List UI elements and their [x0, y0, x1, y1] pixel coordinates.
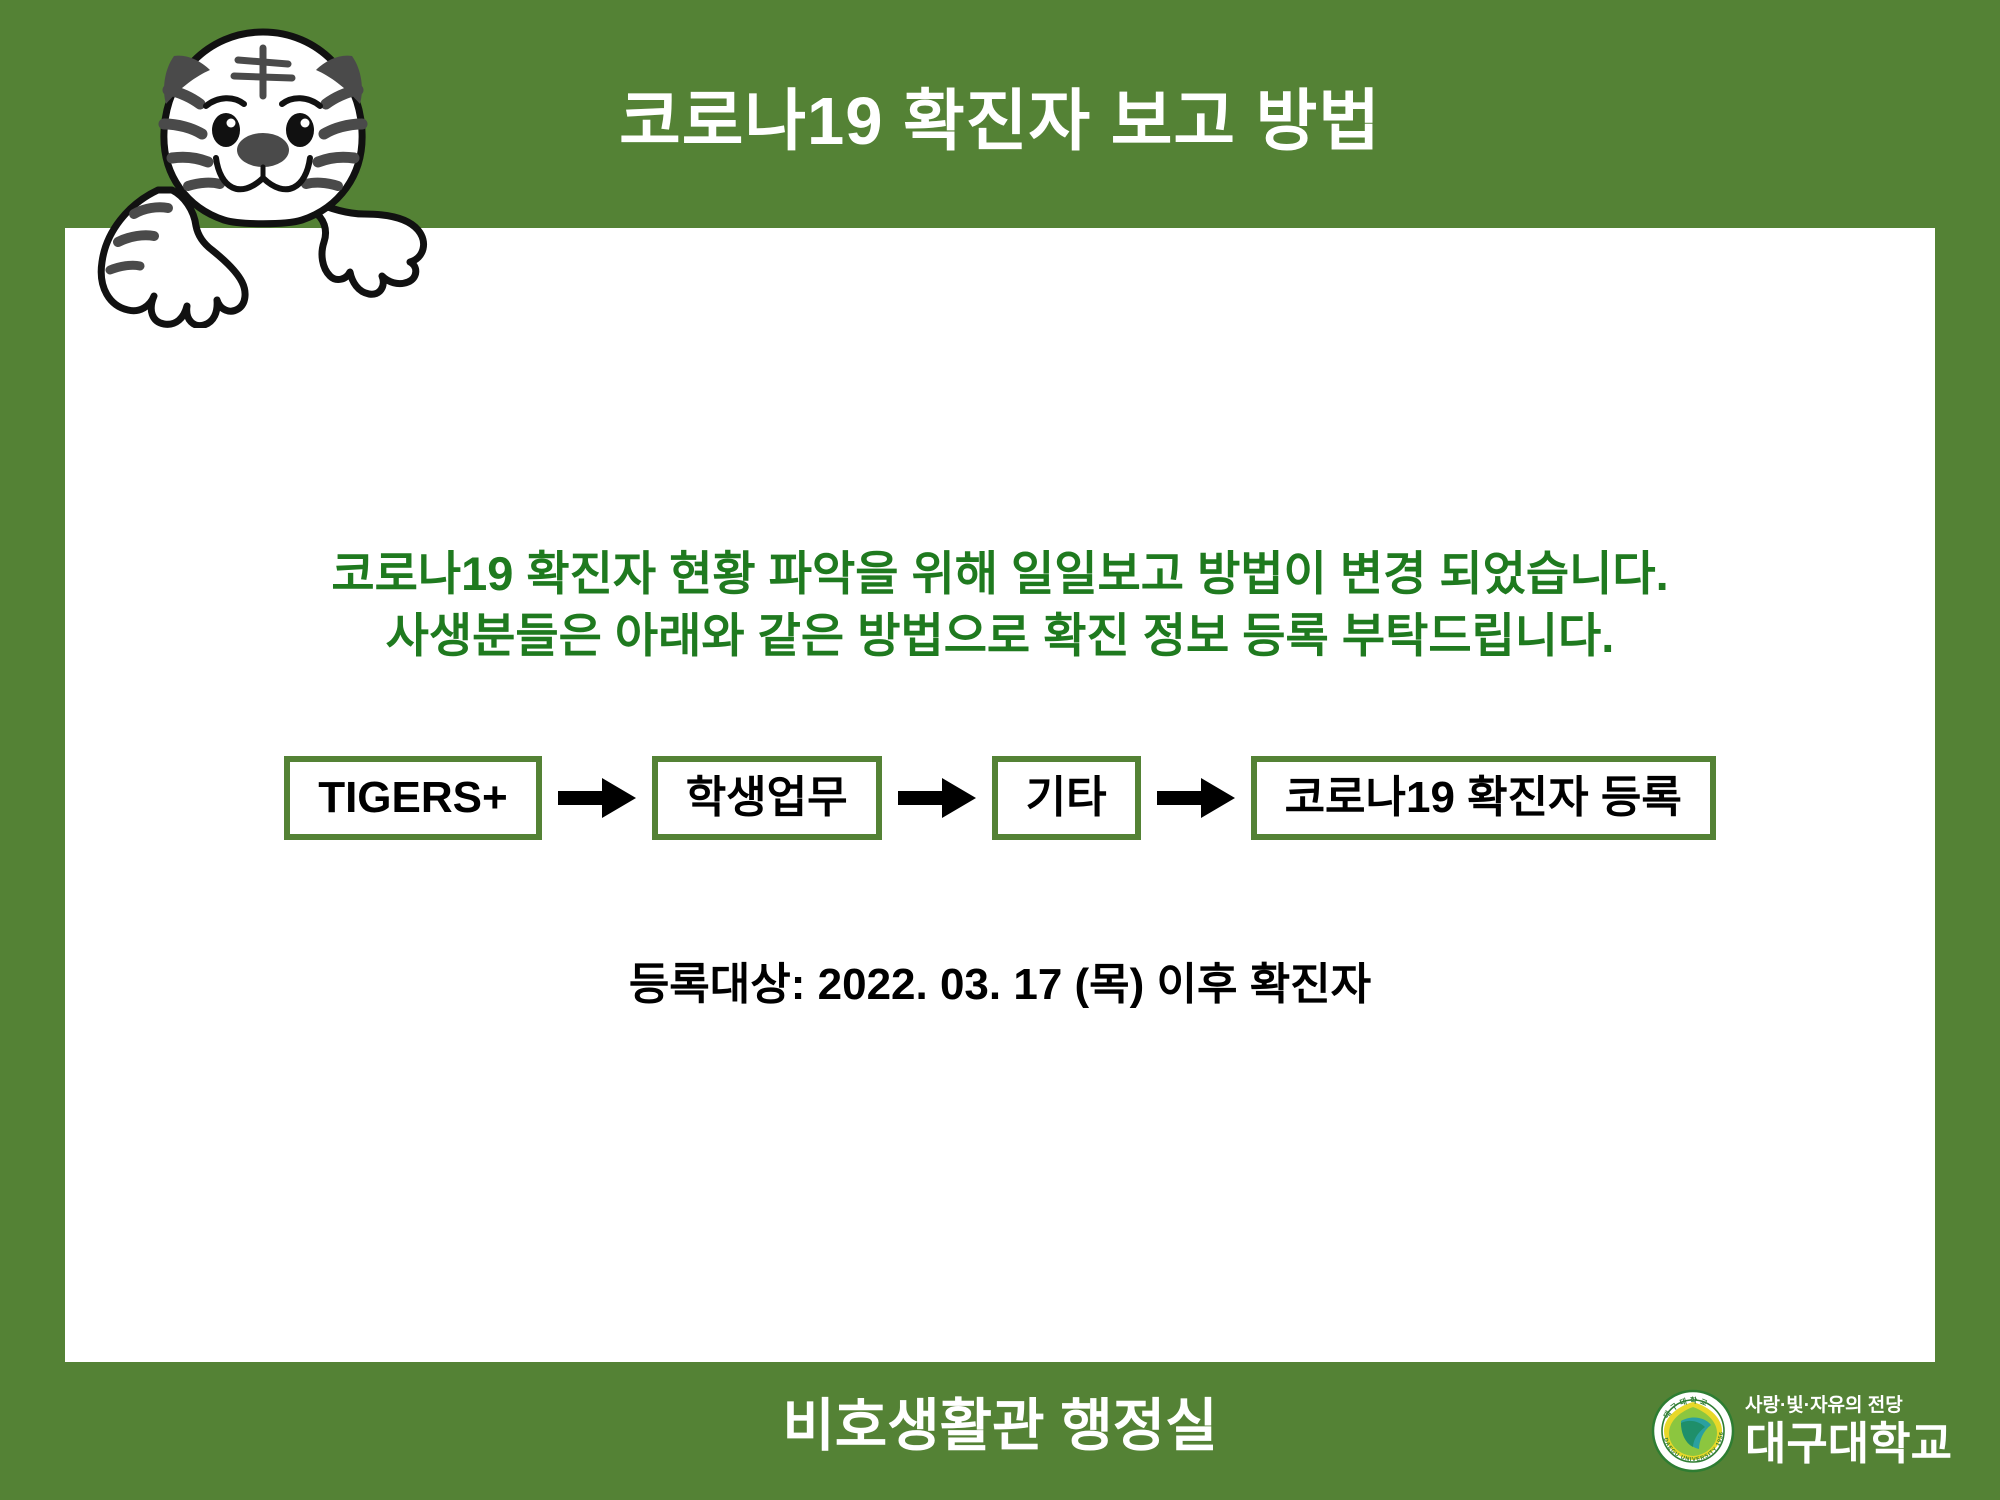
- arrow-right-icon: [1157, 775, 1235, 821]
- university-logo-text: 사랑·빛·자유의 전당 대구대학교: [1745, 1396, 1952, 1466]
- page-title: 코로나19 확진자 보고 방법: [0, 88, 2000, 155]
- notice-line-1: 코로나19 확진자 현황 파악을 위해 일일보고 방법이 변경 되었습니다.: [65, 543, 1935, 605]
- poster-footer: 비호생활관 행정실 대구대학교 DAEGU UNIVERSITY 1956 사랑…: [0, 1362, 2000, 1500]
- notice-paragraph: 코로나19 확진자 현황 파악을 위해 일일보고 방법이 변경 되었습니다. 사…: [65, 543, 1935, 667]
- arrow-right-icon: [898, 775, 976, 821]
- reporting-flow-chart: TIGERS+ 학생업무 기타 코로나19 확진자 등록: [65, 756, 1935, 840]
- registration-target-text: 등록대상: 2022. 03. 17 (목) 이후 확진자: [65, 948, 1935, 1012]
- content-panel: 코로나19 확진자 현황 파악을 위해 일일보고 방법이 변경 되었습니다. 사…: [65, 228, 1935, 1362]
- notice-line-2: 사생분들은 아래와 같은 방법으로 확진 정보 등록 부탁드립니다.: [65, 605, 1935, 667]
- university-name: 대구대학교: [1745, 1421, 1952, 1466]
- flow-step-tigers-plus[interactable]: TIGERS+: [284, 756, 542, 840]
- arrow-right-icon: [558, 775, 636, 821]
- flow-step-student-affairs[interactable]: 학생업무: [652, 756, 882, 840]
- university-logo: 대구대학교 DAEGU UNIVERSITY 1956 사랑·빛·자유의 전당 …: [1651, 1380, 1952, 1482]
- flow-step-etc[interactable]: 기타: [992, 756, 1141, 840]
- daegu-university-emblem-icon: 대구대학교 DAEGU UNIVERSITY 1956: [1651, 1389, 1735, 1473]
- university-tagline: 사랑·빛·자유의 전당: [1745, 1396, 1952, 1415]
- poster-header: 코로나19 확진자 보고 방법: [0, 0, 2000, 228]
- flow-step-covid19-registration[interactable]: 코로나19 확진자 등록: [1251, 756, 1716, 840]
